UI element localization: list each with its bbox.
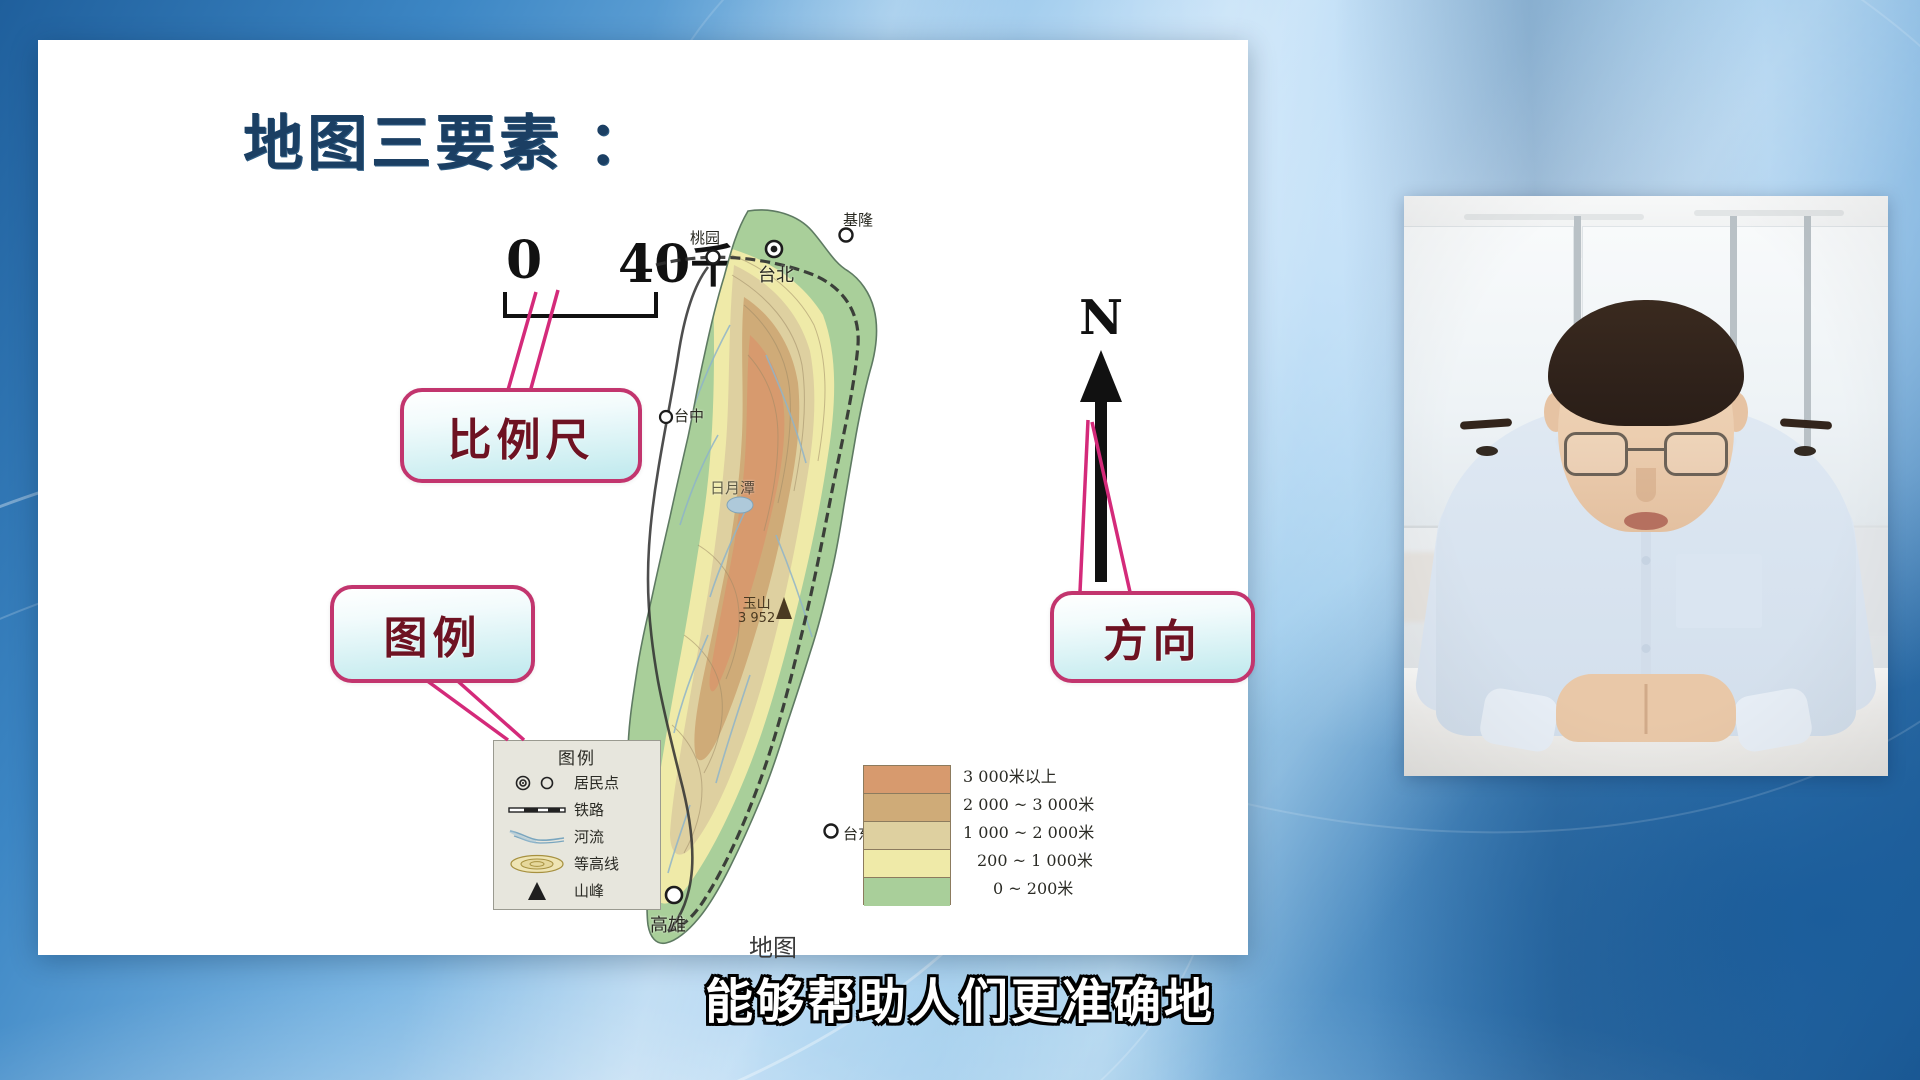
elevation-bar-2000-3000 [864, 794, 950, 822]
elevation-label-1000-2000: 1 000 ~ 2 000米 [963, 819, 1094, 847]
elevation-label-2000-3000: 2 000 ~ 3 000米 [963, 791, 1094, 819]
elevation-color-bars [863, 765, 951, 905]
map-caption: 地图 [713, 928, 833, 963]
callout-scale-label: 比例尺 [448, 404, 595, 468]
elevation-bar-200-1000 [864, 850, 950, 878]
map-legend-label-railway: 铁路 [574, 799, 604, 820]
city-label-taoyuan: 桃园 [690, 227, 720, 248]
callout-direction-label: 方向 [1104, 605, 1202, 669]
contour-icon [500, 853, 574, 875]
callout-legend[interactable]: 图例 [330, 585, 535, 683]
peak-name: 玉山 [738, 597, 775, 612]
elevation-label-0-200: 0 ~ 200米 [963, 875, 1094, 903]
river-icon [500, 827, 574, 847]
callout-direction[interactable]: 方向 [1050, 591, 1255, 683]
city-label-riyuetan: 日月潭 [710, 477, 755, 498]
map-legend-row-settlement: 居民点 [494, 769, 660, 796]
presenter-video[interactable] [1404, 196, 1888, 776]
elevation-bar-0-200 [864, 878, 950, 906]
city-label-taizhong: 台中 [674, 405, 704, 426]
map-legend-row-railway: 铁路 [494, 796, 660, 823]
settlement-icon [500, 775, 574, 791]
map-legend-label-river: 河流 [574, 826, 604, 847]
elevation-label-200-1000: 200 ~ 1 000米 [963, 847, 1094, 875]
north-arrow: N [1056, 290, 1146, 590]
elevation-bar-3000plus [864, 766, 950, 794]
map-legend-row-river: 河流 [494, 823, 660, 850]
peak-height: 3 952 [738, 612, 775, 626]
elevation-labels: 3 000米以上 2 000 ~ 3 000米 1 000 ~ 2 000米 2… [963, 763, 1094, 903]
callout-scale[interactable]: 比例尺 [400, 388, 642, 483]
city-label-jilong: 基隆 [843, 209, 873, 230]
page-title: 地图三要素 ： [243, 95, 652, 182]
map-legend-label-peak: 山峰 [574, 880, 604, 901]
callout-legend-label: 图例 [384, 602, 482, 666]
map-legend-title: 图例 [494, 744, 660, 769]
city-label-taipei: 台北 [758, 261, 794, 287]
peak-icon [500, 881, 574, 901]
elevation-label-3000plus: 3 000米以上 [963, 763, 1094, 791]
subtitle-text: 能够帮助人们更准确地 [0, 962, 1920, 1032]
presentation-slide: 地图三要素 ： 0 40千米 [38, 40, 1248, 955]
scale-bar-start-label: 0 [506, 230, 542, 291]
city-label-gaoxiong: 高雄 [650, 911, 686, 937]
north-arrow-label: N [1056, 290, 1146, 346]
map-legend-label-contour: 等高线 [574, 853, 619, 874]
map-legend-box: 图例 居民点 铁路 [493, 740, 661, 910]
map-legend-row-contour: 等高线 [494, 850, 660, 877]
map-legend-row-peak: 山峰 [494, 877, 660, 904]
video-vignette [1404, 196, 1888, 776]
elevation-bar-1000-2000 [864, 822, 950, 850]
peak-label-yushan: 玉山 3 952 [738, 597, 775, 625]
map-legend-label-settlement: 居民点 [574, 772, 619, 793]
railway-icon [500, 804, 574, 816]
